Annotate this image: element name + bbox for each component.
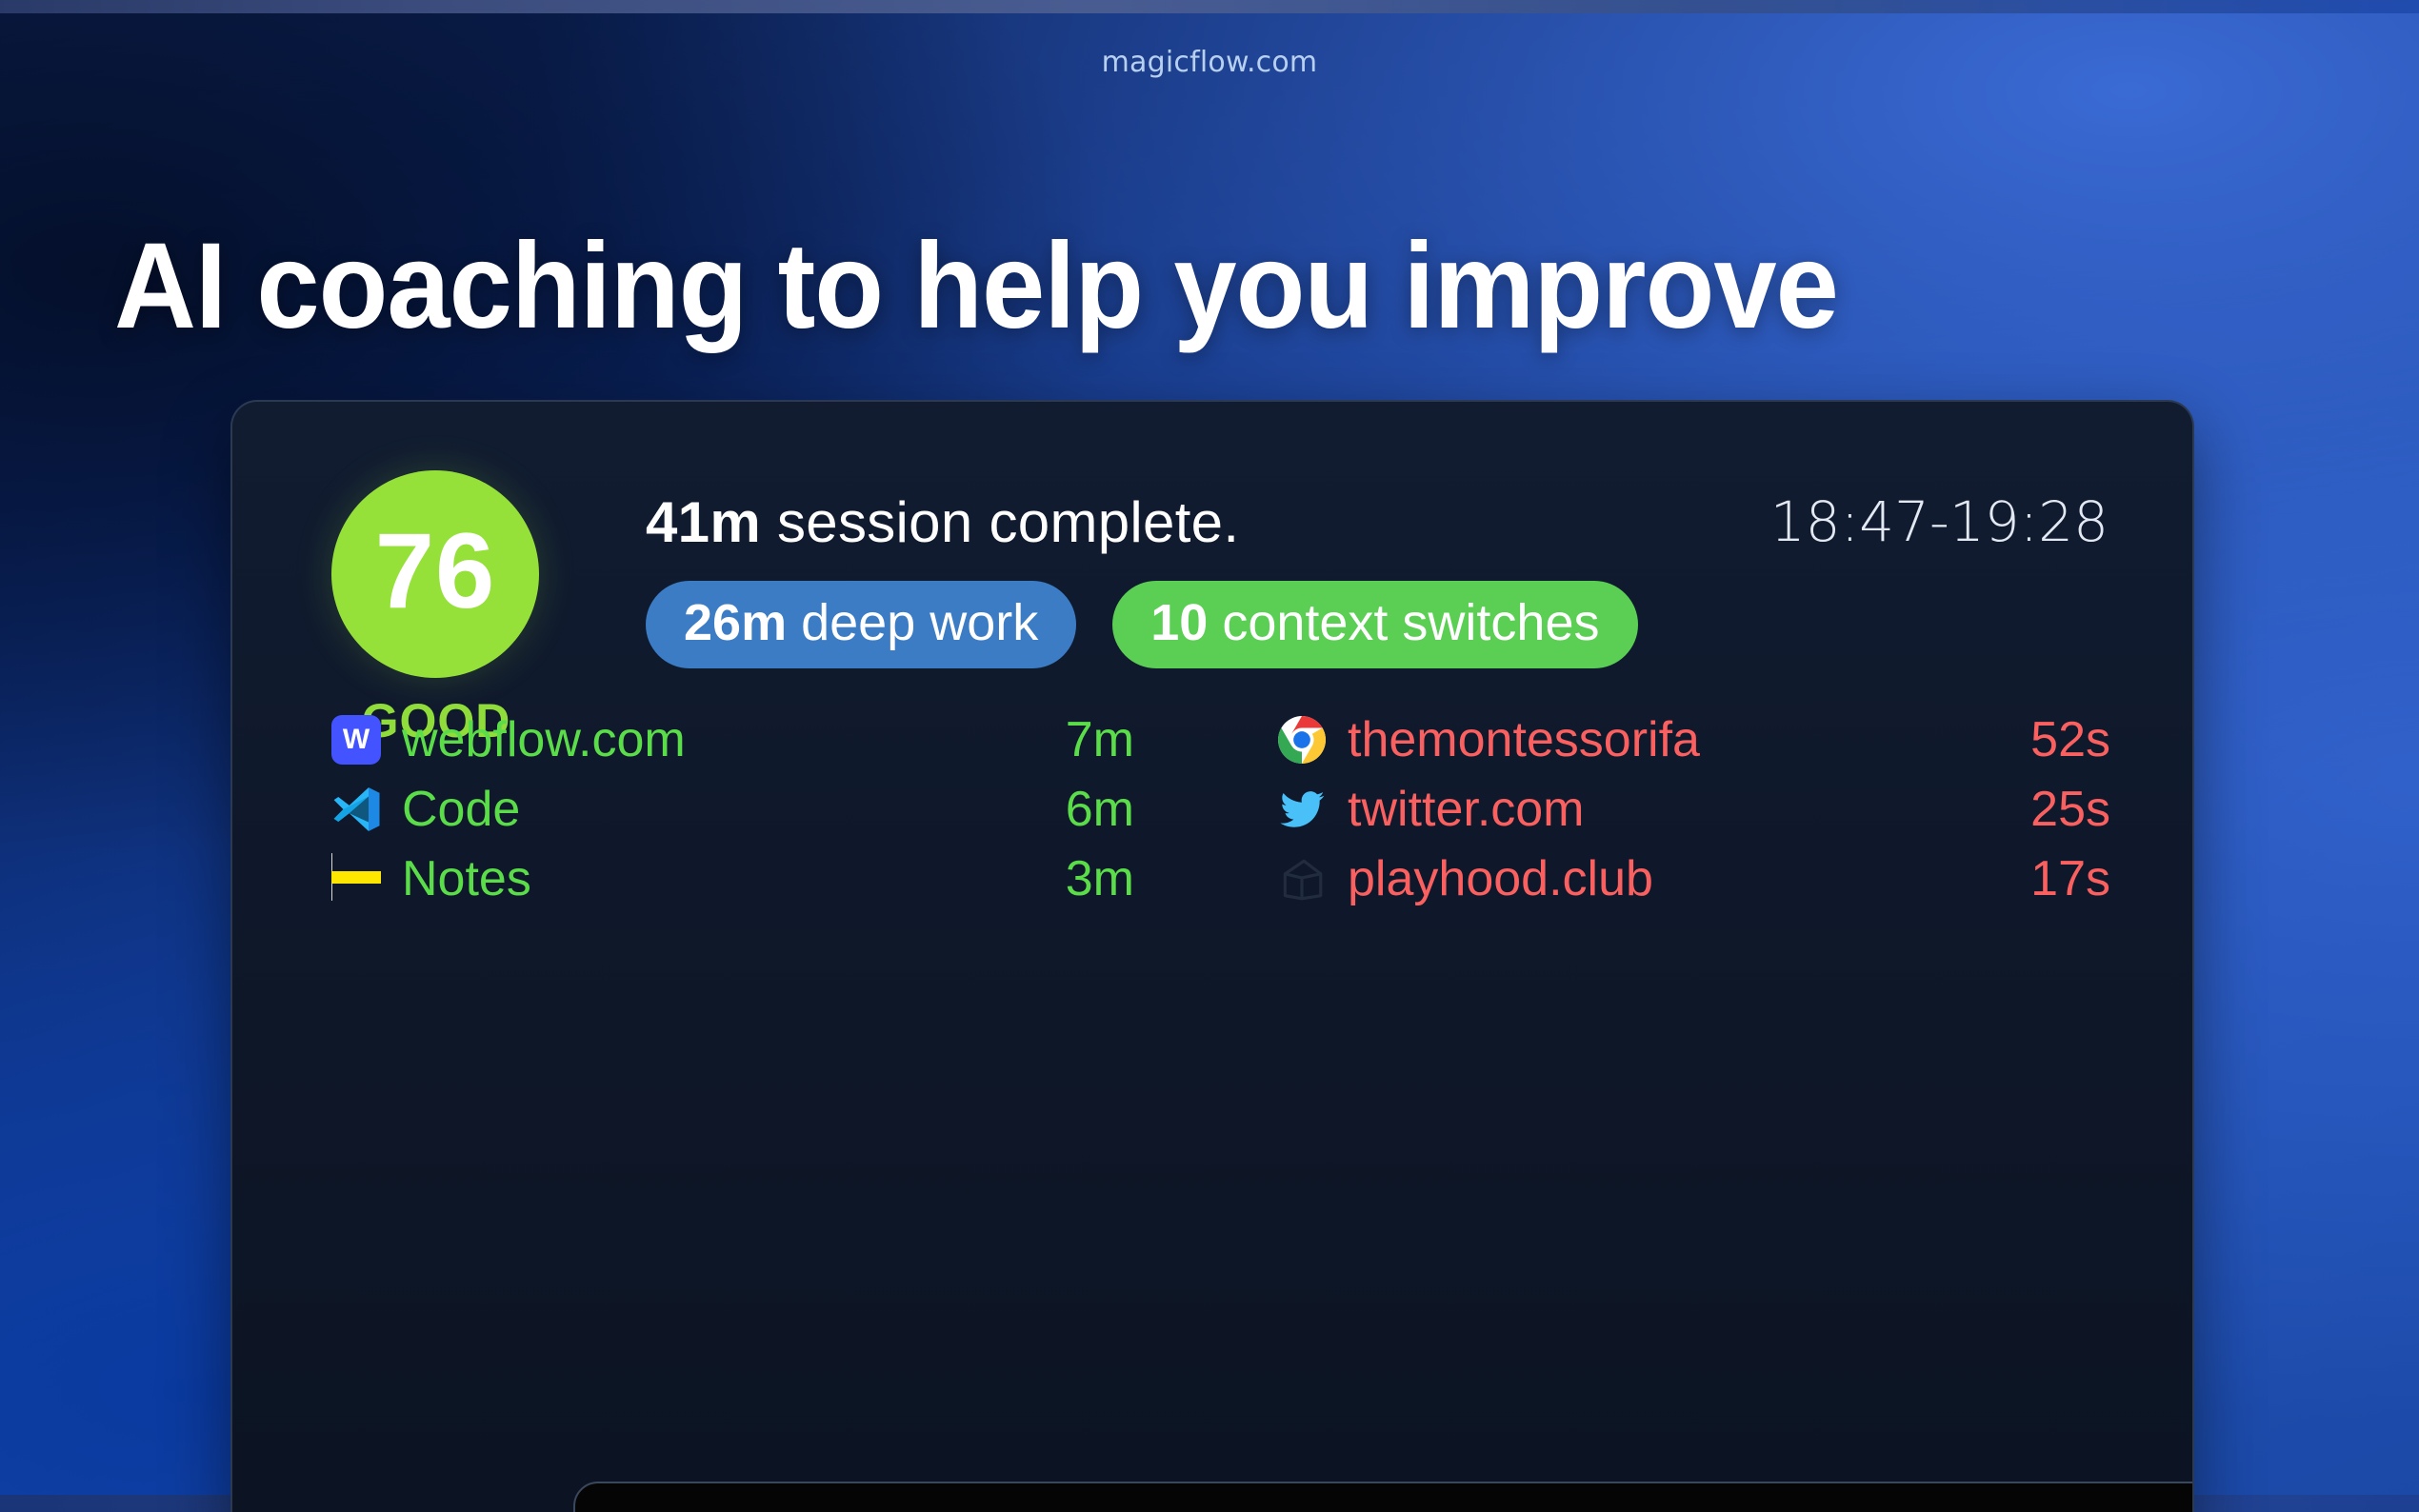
context-switches-value: 10 [1150, 594, 1208, 651]
notes-icon [331, 854, 381, 904]
score-circle: 76 [331, 470, 539, 678]
list-item[interactable]: W webflow.com 7m [331, 705, 1134, 774]
session-summary-card: 76 GOOD 41m session complete. 18:47-19:2… [230, 400, 2194, 1512]
session-time-range: 18:47-19:28 [1770, 489, 2109, 554]
context-switches-label: context switches [1208, 594, 1599, 651]
deep-work-label: deep work [787, 594, 1038, 651]
vscode-icon [331, 785, 381, 834]
app-time: 52s [2030, 715, 2110, 765]
app-time: 17s [2030, 854, 2110, 904]
site-label: magicflow.com [0, 46, 2419, 79]
productive-apps-column: W webflow.com 7m Code [232, 705, 1212, 913]
list-item[interactable]: playhood.club 17s [1277, 844, 2110, 913]
list-item[interactable]: themontessorifa 52s [1277, 705, 2110, 774]
card-header: 76 GOOD 41m session complete. 18:47-19:2… [232, 402, 2192, 687]
top-edge-strip [0, 0, 2419, 13]
deep-work-value: 26m [684, 594, 787, 651]
deep-work-pill: 26m deep work [646, 581, 1076, 668]
list-item[interactable]: Code 6m [331, 774, 1134, 844]
app-name: themontessorifa [1348, 715, 2030, 765]
session-headline: 41m session complete. [646, 489, 1239, 555]
session-duration: 41m [646, 490, 761, 554]
ai-coaching-box: Your biggest blocker was context switchi… [573, 1482, 2194, 1512]
app-name: Notes [402, 854, 1066, 904]
app-time: 3m [1066, 854, 1134, 904]
score-value: 76 [375, 518, 496, 625]
app-name: Code [402, 785, 1066, 834]
webflow-icon: W [331, 715, 381, 765]
chrome-icon [1277, 715, 1327, 765]
session-suffix: session complete. [761, 490, 1239, 554]
app-time: 7m [1066, 715, 1134, 765]
twitter-icon [1277, 785, 1327, 834]
app-name: playhood.club [1348, 854, 2030, 904]
app-usage-lists: W webflow.com 7m Code [232, 705, 2192, 913]
app-time: 25s [2030, 785, 2110, 834]
app-name: webflow.com [402, 715, 1066, 765]
page-title: AI coaching to help you improve [114, 225, 2151, 349]
list-item[interactable]: Notes 3m [331, 844, 1134, 913]
session-stat-pills: 26m deep work 10 context switches [646, 581, 1638, 668]
screenshot-root: magicflow.com AI coaching to help you im… [0, 0, 2419, 1512]
context-switches-pill: 10 context switches [1112, 581, 1637, 668]
distracting-apps-column: themontessorifa 52s twitter.com 25s [1212, 705, 2192, 913]
app-time: 6m [1066, 785, 1134, 834]
list-item[interactable]: twitter.com 25s [1277, 774, 2110, 844]
app-name: twitter.com [1348, 785, 2030, 834]
playhood-icon [1277, 854, 1327, 904]
